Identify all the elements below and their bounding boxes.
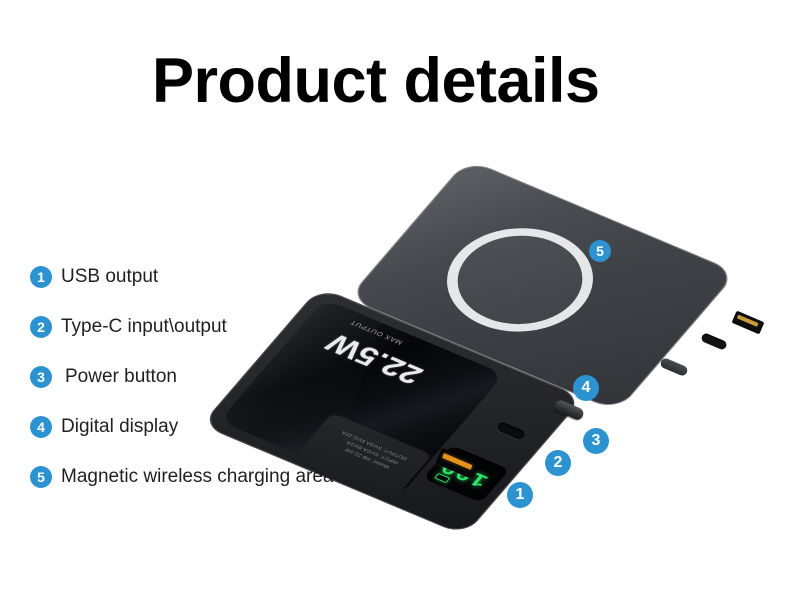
legend-label-power-button: Power button xyxy=(65,366,177,388)
legend-badge-1: 1 xyxy=(30,266,52,288)
callout-badge-power-button: 3 xyxy=(583,428,609,454)
page-title: Product details xyxy=(152,48,600,114)
legend-label-digital-display: Digital display xyxy=(61,416,178,438)
legend-label-usb-output: USB output xyxy=(61,266,158,288)
product-scene: 22.5W MAX OUTPUT Model: PB-22.5W INPUT: … xyxy=(300,150,790,550)
callout-badge-usb-output: 1 xyxy=(507,482,533,508)
legend-badge-5: 5 xyxy=(30,466,52,488)
callout-badge-magnetic-charging: 5 xyxy=(589,240,611,262)
legend-badge-4: 4 xyxy=(30,416,52,438)
magnetic-charging-ring-icon xyxy=(420,209,621,350)
legend-label-type-c: Type-C input\output xyxy=(61,316,227,338)
product-details-page: Product details 1 USB output 2 Type-C in… xyxy=(0,0,790,597)
callout-badge-type-c: 2 xyxy=(545,450,571,476)
legend-badge-3: 3 xyxy=(30,366,52,388)
legend-label-magnetic-charging: Magnetic wireless charging area xyxy=(61,466,333,488)
legend-badge-2: 2 xyxy=(30,316,52,338)
callout-badge-digital-display: 4 xyxy=(573,375,599,401)
